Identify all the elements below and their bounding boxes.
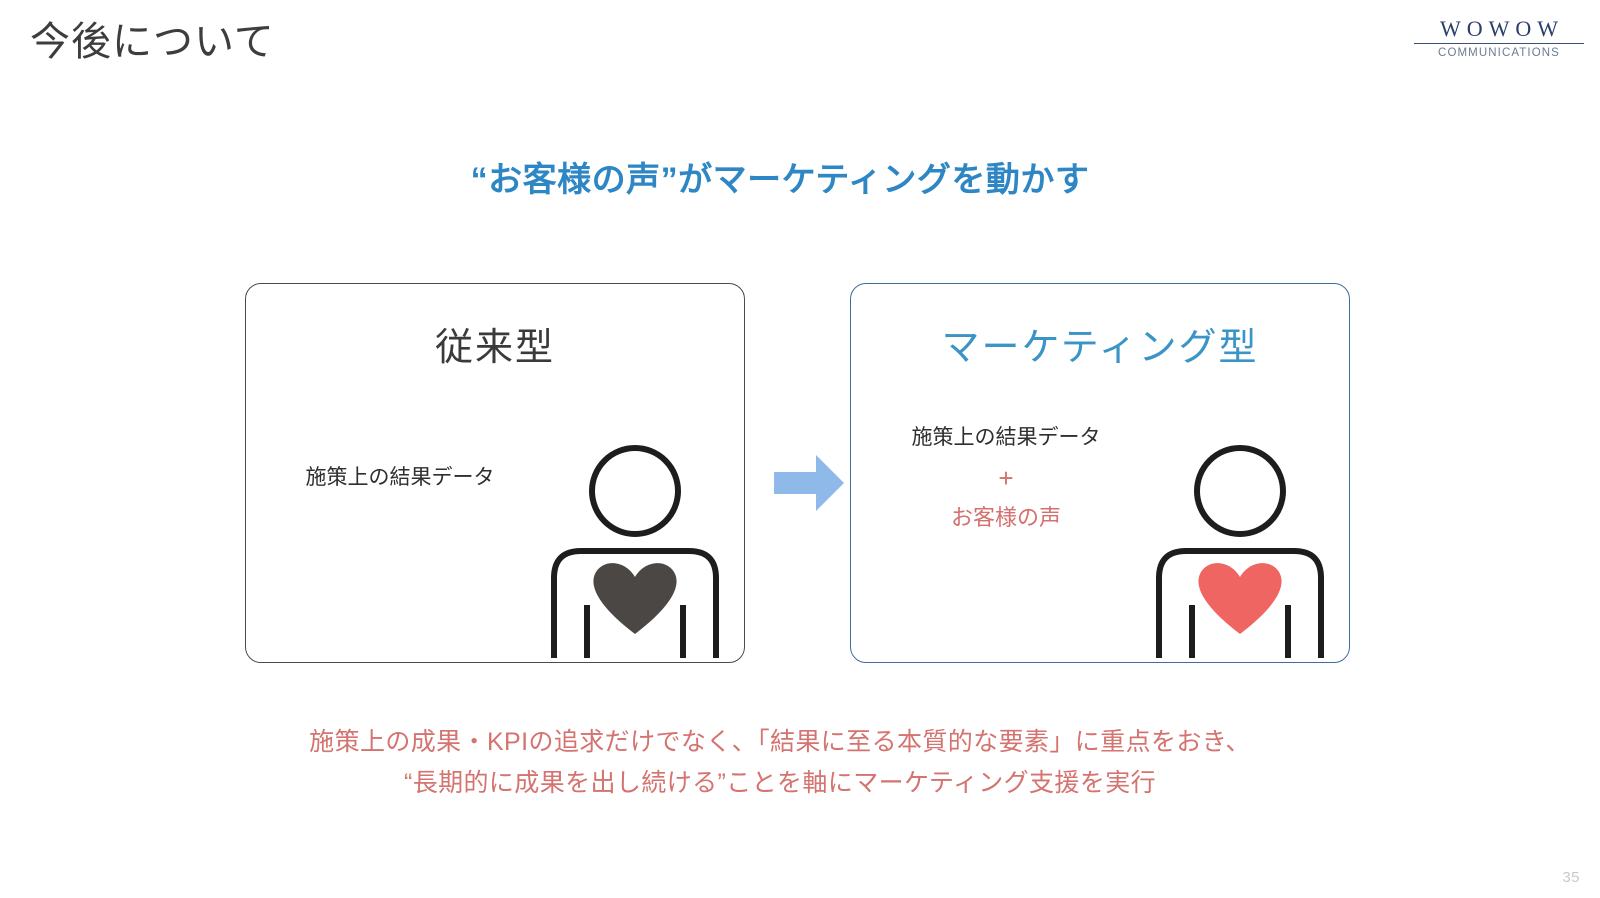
summary-text: 施策上の成果・KPIの追求だけでなく、「結果に至る本質的な要素」に重点をおき、 … [0, 722, 1560, 803]
panel-legacy-title: 従来型 [246, 316, 744, 371]
wowow-communications-logo: WOWOW COMMUNICATIONS [1414, 18, 1584, 60]
panel-marketing-voice-label: お客様の声 [871, 501, 1141, 535]
panel-marketing-text-stack: 施策上の結果データ + お客様の声 [871, 422, 1141, 535]
arrow-right-icon [772, 452, 846, 514]
main-heading: “お客様の声”がマーケティングを動かす [0, 152, 1560, 201]
brand-wordmark: WOWOW [1414, 18, 1584, 44]
page-number: 35 [1562, 869, 1580, 886]
heart-shape-dark [593, 563, 676, 634]
summary-line-2: “長期的に成果を出し続ける”ことを軸にマーケティング支援を実行 [0, 763, 1560, 804]
panel-marketing-title: マーケティング型 [851, 316, 1349, 371]
page-title: 今後について [30, 18, 275, 66]
heart-shape-red [1198, 563, 1281, 634]
plus-sign: + [871, 465, 1141, 491]
summary-line-1: 施策上の成果・KPIの追求だけでなく、「結果に至る本質的な要素」に重点をおき、 [0, 722, 1560, 763]
brand-subtext: COMMUNICATIONS [1414, 48, 1584, 60]
panel-marketing-data-label: 施策上の結果データ [871, 422, 1141, 455]
person-with-heart-icon [540, 443, 730, 658]
panel-legacy-data-label: 施策上の結果データ [270, 462, 530, 495]
person-with-red-heart-icon [1145, 443, 1335, 658]
slide-canvas: 今後について WOWOW COMMUNICATIONS “お客様の声”がマーケテ… [0, 0, 1600, 898]
